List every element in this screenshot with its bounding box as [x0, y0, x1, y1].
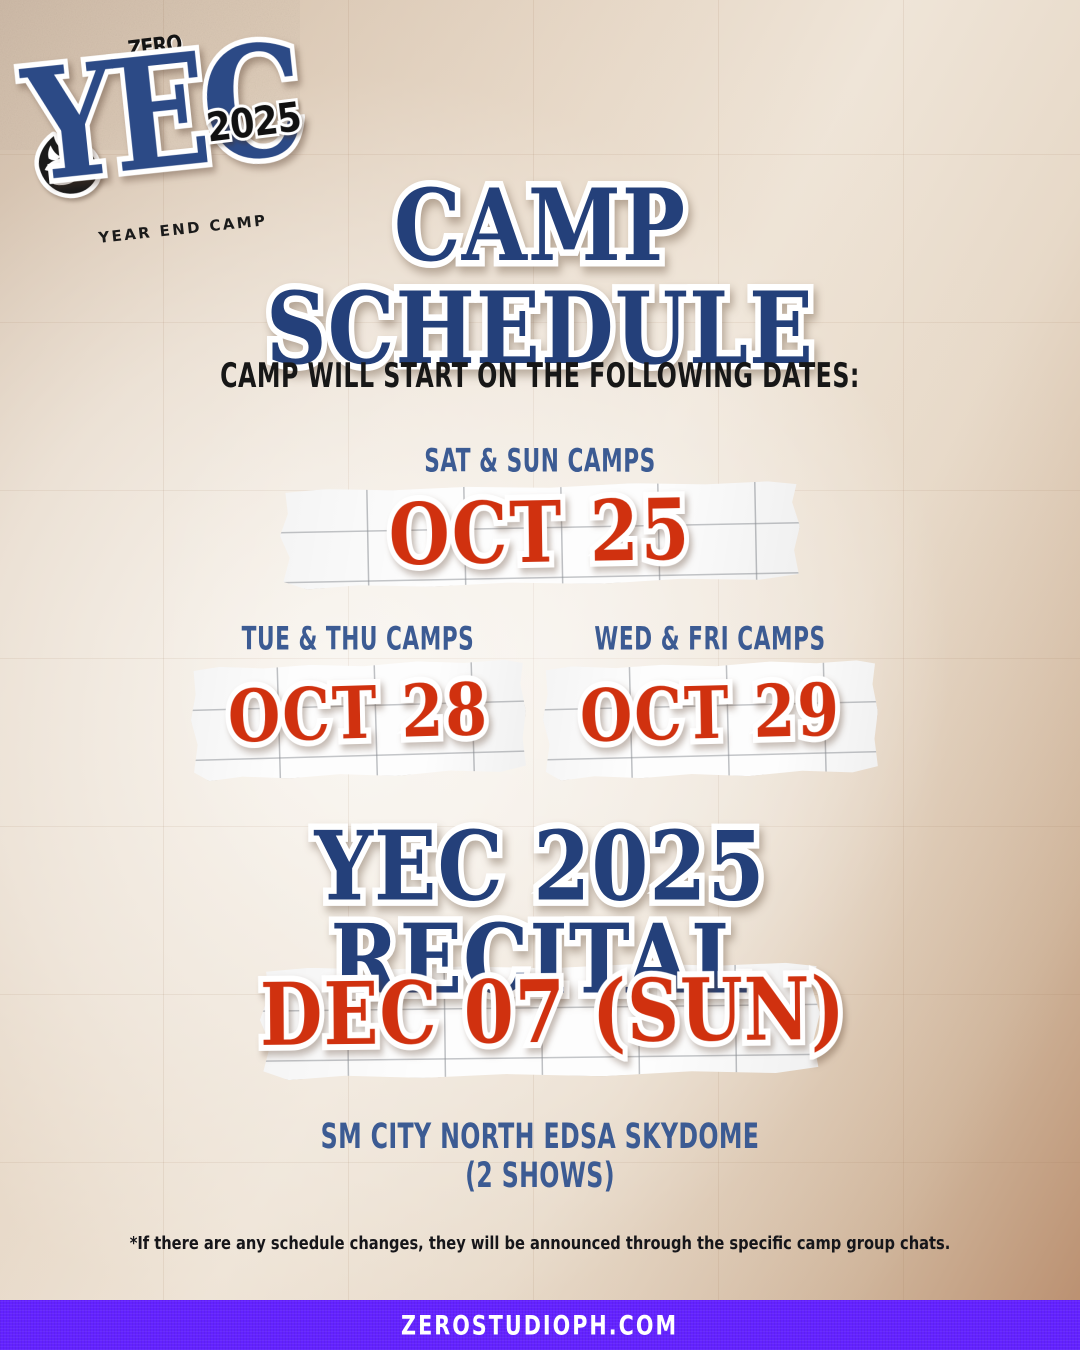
recital-date-strip: DEC 07 (SUN)	[260, 965, 820, 1077]
poster-canvas: ZERO YEC 2025 YEAR END CAMP CAMP SCHEDUL…	[0, 0, 1080, 1350]
venue-line2: (2 SHOWS)	[81, 1155, 999, 1199]
card-date: OCT 25	[279, 478, 800, 587]
recital-section: YEC 2025 RECITAL DEC 07 (SUN)	[0, 828, 1080, 1077]
card-label: TUE & THU CAMPS	[203, 620, 513, 658]
recital-title-line1: YEC 2025	[0, 822, 1080, 913]
date-strip: OCT 28	[191, 663, 526, 777]
footnote: *If there are any schedule changes, they…	[38, 1234, 1042, 1254]
schedule-card-tue-thu: TUE & THU CAMPS OCT 28	[178, 622, 538, 777]
recital-date: DEC 07 (SUN)	[260, 958, 821, 1066]
footer-bar: ZEROSTUDIOPH.COM	[0, 1300, 1080, 1350]
date-strip: OCT 25	[280, 485, 800, 585]
venue-info: SM CITY NORTH EDSA SKYDOME (2 SHOWS)	[0, 1118, 1080, 1196]
schedule-card-wed-fri: WED & FRI CAMPS OCT 29	[530, 622, 890, 777]
schedule-card-sat-sun: SAT & SUN CAMPS OCT 25	[0, 444, 1080, 585]
card-date: OCT 28	[190, 667, 527, 761]
subtitle: CAMP WILL START ON THE FOLLOWING DATES:	[65, 357, 1015, 396]
website-url[interactable]: ZEROSTUDIOPH.COM	[401, 1310, 678, 1341]
card-label: WED & FRI CAMPS	[555, 620, 865, 658]
date-strip: OCT 29	[543, 663, 878, 777]
card-date: OCT 29	[542, 668, 878, 760]
venue-line1: SM CITY NORTH EDSA SKYDOME	[81, 1116, 999, 1160]
card-label: SAT & SUN CAMPS	[76, 442, 1005, 480]
page-title: CAMP SCHEDULE	[0, 186, 1080, 369]
title-line-camp: CAMP	[0, 179, 1080, 274]
